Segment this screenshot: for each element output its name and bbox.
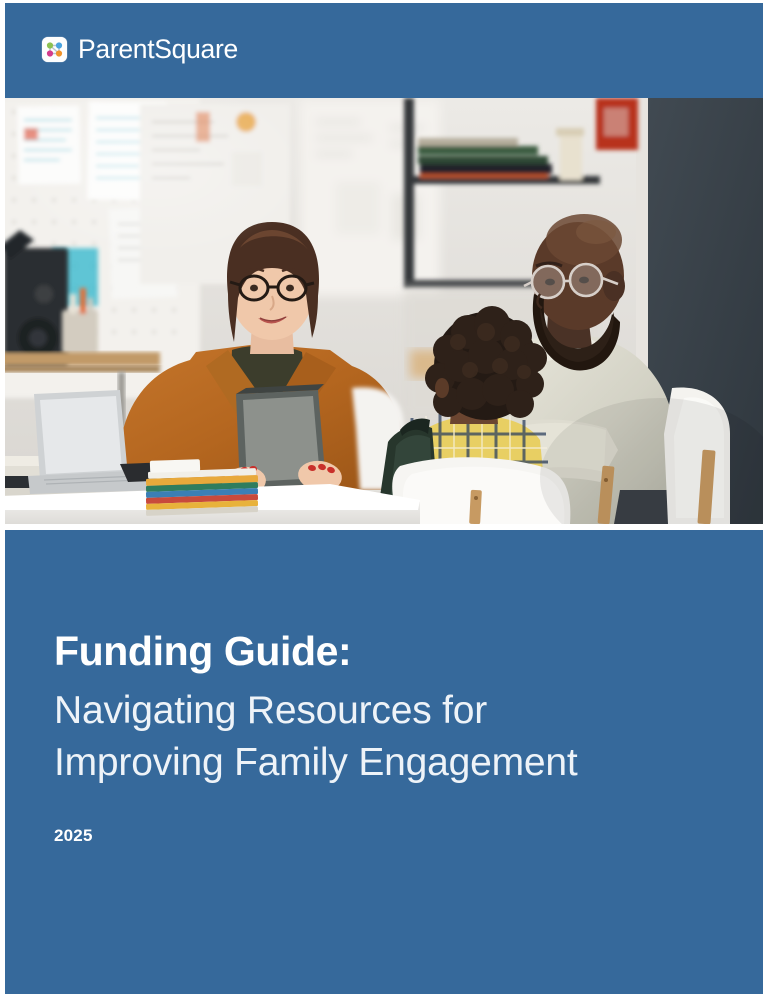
photo-divider (0, 524, 768, 530)
parentsquare-logo-icon (42, 37, 67, 62)
page-subtitle: Navigating Resources for Improving Famil… (54, 685, 720, 788)
publication-year: 2025 (54, 826, 720, 846)
page-title: Funding Guide: (54, 630, 720, 673)
cover-page: ParentSquare (0, 0, 768, 994)
page-subtitle-line-1: Navigating Resources for (54, 685, 720, 736)
hero-photo (0, 98, 768, 524)
page-frame-right (763, 0, 768, 994)
page-subtitle-line-2: Improving Family Engagement (54, 737, 720, 788)
brand-logo-lockup[interactable]: ParentSquare (42, 36, 238, 63)
brand-name: ParentSquare (78, 36, 238, 63)
page-header: ParentSquare (0, 0, 768, 98)
page-frame-left (0, 0, 5, 994)
cover-title-block: Funding Guide: Navigating Resources for … (0, 530, 768, 846)
page-frame-top (0, 0, 768, 3)
